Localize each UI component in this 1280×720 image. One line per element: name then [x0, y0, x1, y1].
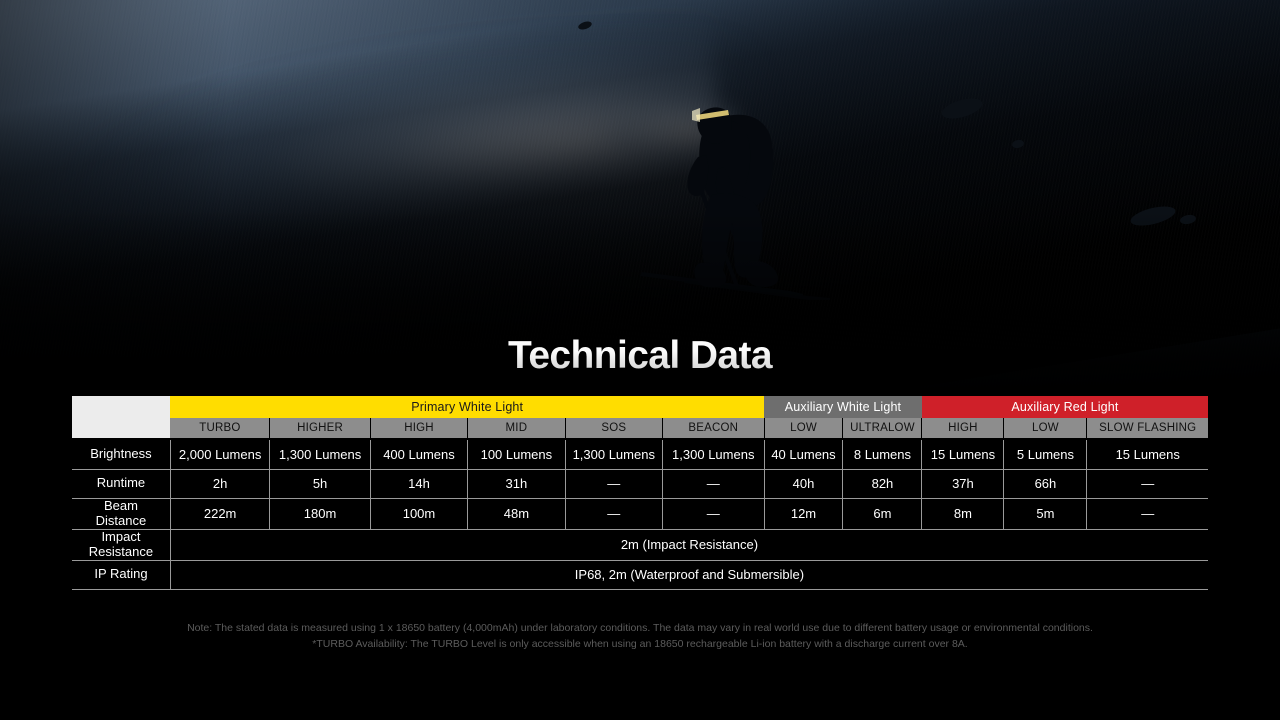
table-row-beam-distance: Beam Distance 222m 180m 100m 48m — — 12m…	[72, 498, 1208, 529]
row-label-runtime: Runtime	[72, 469, 170, 498]
technical-data-table: Primary White Light Auxiliary White Ligh…	[72, 396, 1208, 590]
cell-impact-resistance-value: 2m (Impact Resistance)	[170, 529, 1208, 560]
cell-beam-distance-higher: 180m	[270, 498, 370, 529]
cell-runtime-sos: —	[565, 469, 662, 498]
cell-brightness-aux-low: 40 Lumens	[764, 440, 843, 469]
cell-runtime-turbo: 2h	[170, 469, 269, 498]
cell-runtime-higher: 5h	[270, 469, 370, 498]
mode-header-red-slow-flashing: SLOW FLASHING	[1087, 418, 1208, 438]
cell-brightness-turbo: 2,000 Lumens	[170, 440, 269, 469]
table-row-ip-rating: IP Rating IP68, 2m (Waterproof and Subme…	[72, 560, 1208, 589]
table-row-impact-resistance: Impact Resistance 2m (Impact Resistance)	[72, 529, 1208, 560]
group-header-primary-white-light: Primary White Light	[170, 396, 764, 418]
cell-brightness-aux-ultralow: 8 Lumens	[843, 440, 922, 469]
mode-header-turbo: TURBO	[170, 418, 269, 438]
row-label-beam-distance-line1: Beam	[104, 498, 138, 513]
cell-runtime-red-slow-flashing: —	[1087, 469, 1208, 498]
mode-header-sos: SOS	[565, 418, 662, 438]
cell-brightness-beacon: 1,300 Lumens	[662, 440, 764, 469]
cell-beam-distance-sos: —	[565, 498, 662, 529]
cell-beam-distance-red-slow-flashing: —	[1087, 498, 1208, 529]
cell-beam-distance-turbo: 222m	[170, 498, 269, 529]
table-group-header-row: Primary White Light Auxiliary White Ligh…	[72, 396, 1208, 418]
table-row-brightness: Brightness 2,000 Lumens 1,300 Lumens 400…	[72, 440, 1208, 469]
cell-runtime-mid: 31h	[468, 469, 565, 498]
cell-beam-distance-mid: 48m	[468, 498, 565, 529]
cell-brightness-red-slow-flashing: 15 Lumens	[1087, 440, 1208, 469]
row-label-ip-rating: IP Rating	[72, 560, 170, 589]
cell-beam-distance-beacon: —	[662, 498, 764, 529]
group-header-auxiliary-white-light: Auxiliary White Light	[764, 396, 922, 418]
mode-header-mid: MID	[468, 418, 565, 438]
technical-data-table-wrapper: Primary White Light Auxiliary White Ligh…	[72, 396, 1208, 590]
row-label-beam-distance-line2: Distance	[96, 513, 147, 528]
cell-runtime-aux-low: 40h	[764, 469, 843, 498]
row-label-impact-resistance-line2: Resistance	[89, 544, 153, 559]
cell-runtime-beacon: —	[662, 469, 764, 498]
mode-header-aux-ultralow: ULTRALOW	[843, 418, 922, 438]
mode-header-beacon: BEACON	[662, 418, 764, 438]
mode-header-higher: HIGHER	[270, 418, 370, 438]
row-label-impact-resistance-line1: Impact	[101, 529, 140, 544]
table-row-runtime: Runtime 2h 5h 14h 31h — — 40h 82h 37h 66…	[72, 469, 1208, 498]
row-label-beam-distance: Beam Distance	[72, 498, 170, 529]
cell-runtime-high: 14h	[370, 469, 467, 498]
cell-runtime-red-low: 66h	[1004, 469, 1087, 498]
footnote-line-2: *TURBO Availability: The TURBO Level is …	[0, 636, 1280, 652]
cell-brightness-red-high: 15 Lumens	[922, 440, 1004, 469]
cell-runtime-red-high: 37h	[922, 469, 1004, 498]
table-mode-header-row: TURBO HIGHER HIGH MID SOS BEACON LOW ULT…	[72, 418, 1208, 438]
cell-brightness-sos: 1,300 Lumens	[565, 440, 662, 469]
cell-beam-distance-aux-ultralow: 6m	[843, 498, 922, 529]
mode-header-red-low: LOW	[1004, 418, 1087, 438]
footnote-line-1: Note: The stated data is measured using …	[0, 620, 1280, 636]
cell-beam-distance-aux-low: 12m	[764, 498, 843, 529]
footnotes: Note: The stated data is measured using …	[0, 620, 1280, 652]
cell-brightness-higher: 1,300 Lumens	[270, 440, 370, 469]
page-title: Technical Data	[0, 334, 1280, 378]
cell-beam-distance-red-low: 5m	[1004, 498, 1087, 529]
cell-brightness-high: 400 Lumens	[370, 440, 467, 469]
mode-header-high: HIGH	[370, 418, 467, 438]
cell-beam-distance-high: 100m	[370, 498, 467, 529]
table-corner-cell	[72, 396, 170, 418]
mode-header-red-high: HIGH	[922, 418, 1004, 438]
cell-brightness-mid: 100 Lumens	[468, 440, 565, 469]
group-header-auxiliary-red-light: Auxiliary Red Light	[922, 396, 1208, 418]
table-corner-cell-lower	[72, 418, 170, 438]
row-label-brightness: Brightness	[72, 440, 170, 469]
mode-header-aux-low: LOW	[764, 418, 843, 438]
cell-brightness-red-low: 5 Lumens	[1004, 440, 1087, 469]
cell-runtime-aux-ultralow: 82h	[843, 469, 922, 498]
cell-beam-distance-red-high: 8m	[922, 498, 1004, 529]
cell-ip-rating-value: IP68, 2m (Waterproof and Submersible)	[170, 560, 1208, 589]
row-label-impact-resistance: Impact Resistance	[72, 529, 170, 560]
technical-data-page: Technical Data Primary White Light Auxil…	[0, 0, 1280, 720]
